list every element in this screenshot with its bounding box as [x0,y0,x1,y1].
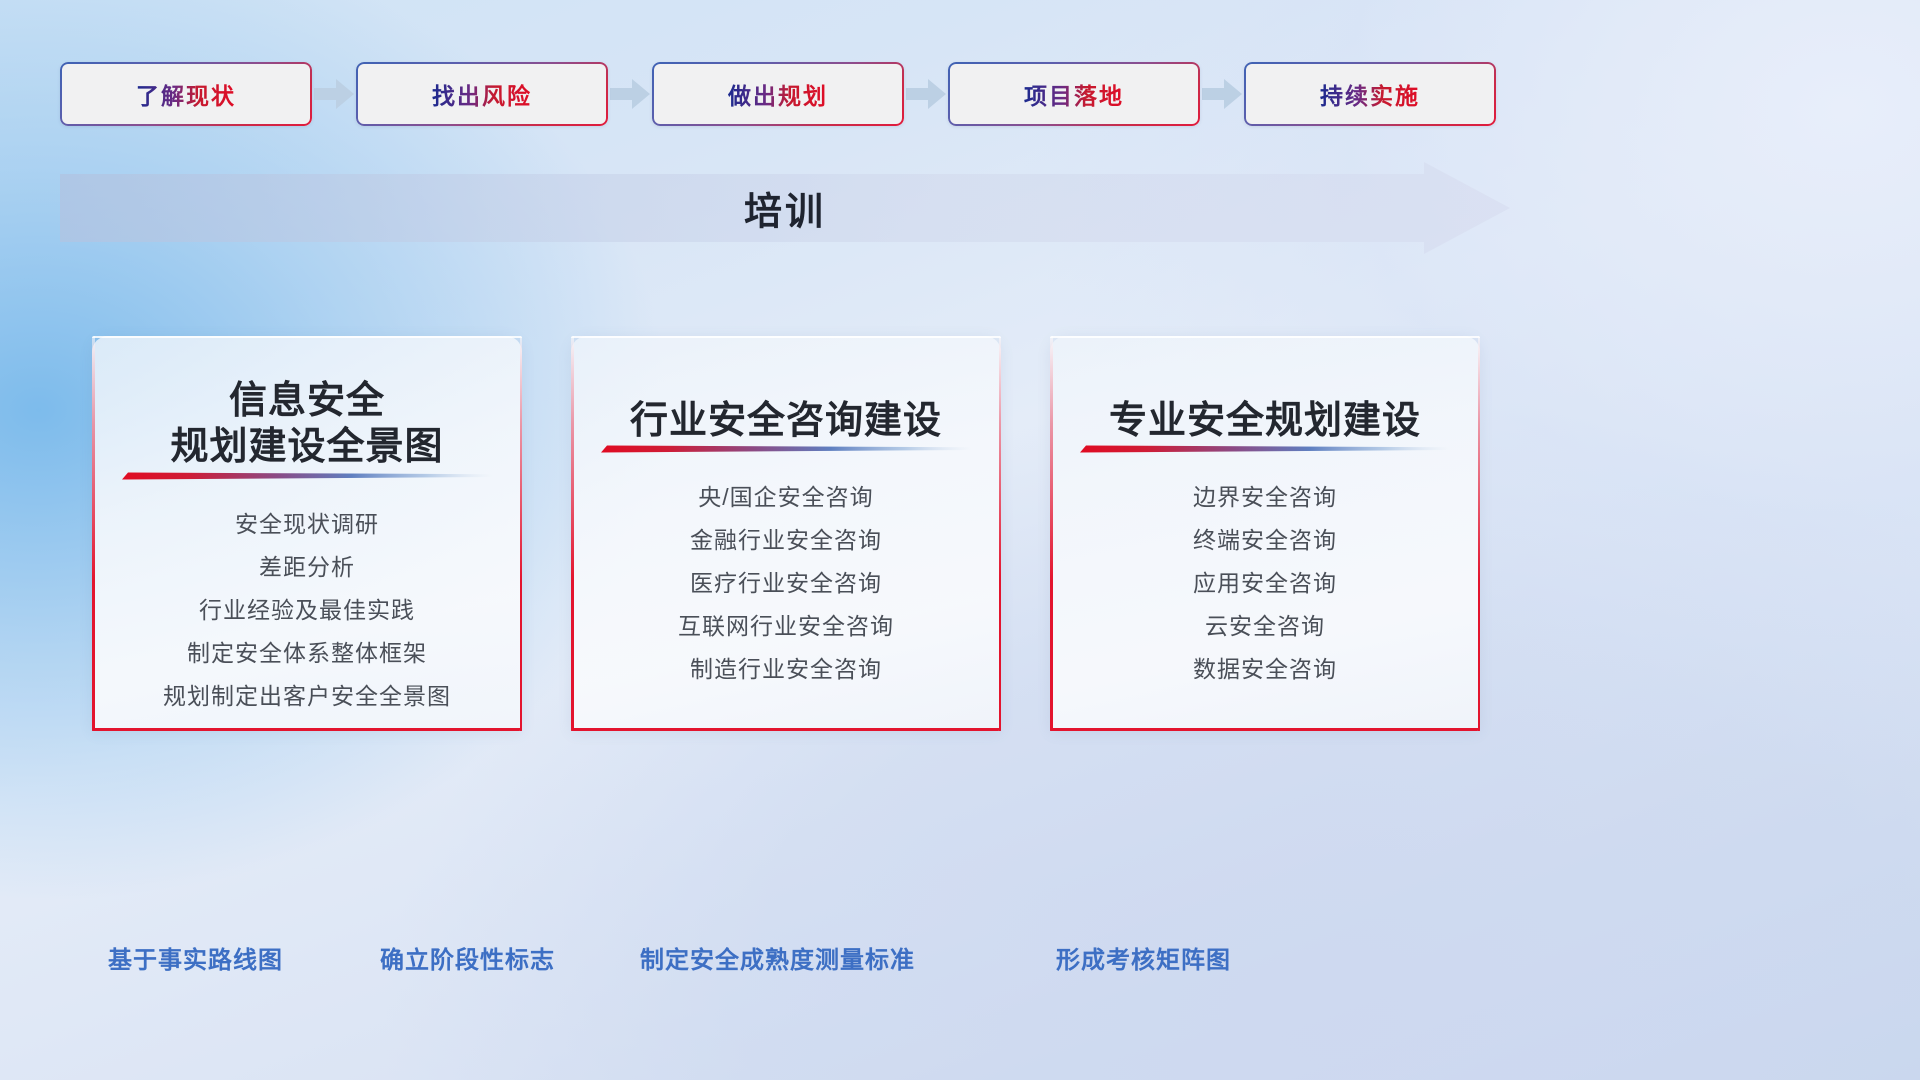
card-information-security[interactable]: 信息安全 规划建设全景图 安全现状调研 [92,336,522,731]
caption-1: 基于事实路线图 [108,940,283,975]
process-step-row: 了解现状 找出风险 做出规划 项目落地 持续实施 [60,62,1510,126]
card-title-1-line-2: 规划建设全景图 [92,424,522,470]
card-title-2-line-1: 行业安全咨询建设 [571,398,1001,444]
caption-2: 确立阶段性标志 [380,940,555,975]
list-item: 金融行业安全咨询 [571,519,1001,562]
card-title-1-line-1: 信息安全 [92,378,522,424]
gradient-divider-icon-2 [601,444,971,454]
card-list-3: 边界安全咨询 终端安全咨询 应用安全咨询 云安全咨询 数据安全咨询 [1050,476,1480,691]
step-box-2[interactable]: 找出风险 [356,62,608,126]
card-industry-security-consulting[interactable]: 行业安全咨询建设 央/国企安全咨询 金融行业安全咨 [571,336,1001,731]
right-arrow-icon-3 [904,62,948,126]
list-item: 规划制定出客户安全全景图 [92,675,522,718]
list-item: 行业经验及最佳实践 [92,589,522,632]
step-box-1[interactable]: 了解现状 [60,62,312,126]
card-title-3: 专业安全规划建设 [1050,336,1480,444]
right-arrow-icon-4 [1200,62,1244,126]
card-row: 信息安全 规划建设全景图 安全现状调研 [92,336,1480,731]
list-item: 制造行业安全咨询 [571,648,1001,691]
list-item: 数据安全咨询 [1050,648,1480,691]
caption-3: 制定安全成熟度测量标准 [640,940,915,975]
step-box-4[interactable]: 项目落地 [948,62,1200,126]
step-label-2: 找出风险 [432,77,532,111]
right-arrow-icon-2 [608,62,652,126]
card-professional-security-planning[interactable]: 专业安全规划建设 边界安全咨询 终端安全咨询 [1050,336,1480,731]
card-title-1: 信息安全 规划建设全景图 [92,336,522,471]
list-item: 安全现状调研 [92,503,522,546]
right-arrow-icon-1 [312,62,356,126]
list-item: 制定安全体系整体框架 [92,632,522,675]
list-item: 云安全咨询 [1050,605,1480,648]
caption-4: 形成考核矩阵图 [1056,940,1231,975]
step-label-1: 了解现状 [136,77,236,111]
card-list-1: 安全现状调研 差距分析 行业经验及最佳实践 制定安全体系整体框架 规划制定出客户… [92,503,522,718]
list-item: 医疗行业安全咨询 [571,562,1001,605]
step-label-5: 持续实施 [1320,77,1420,111]
card-bottom-line [1050,728,1480,731]
step-label-3: 做出规划 [728,77,828,111]
list-item: 终端安全咨询 [1050,519,1480,562]
gradient-divider-icon-1 [122,471,492,481]
card-list-2: 央/国企安全咨询 金融行业安全咨询 医疗行业安全咨询 互联网行业安全咨询 制造行… [571,476,1001,691]
list-item: 央/国企安全咨询 [571,476,1001,519]
banner-title: 培训 [60,181,1510,236]
step-box-5[interactable]: 持续实施 [1244,62,1496,126]
training-banner: 培训 [60,162,1510,254]
list-item: 互联网行业安全咨询 [571,605,1001,648]
caption-row: 基于事实路线图 确立阶段性标志 制定安全成熟度测量标准 形成考核矩阵图 [0,940,1920,990]
list-item: 边界安全咨询 [1050,476,1480,519]
card-title-2: 行业安全咨询建设 [571,336,1001,444]
card-title-3-line-1: 专业安全规划建设 [1050,398,1480,444]
step-box-3[interactable]: 做出规划 [652,62,904,126]
step-label-4: 项目落地 [1024,77,1124,111]
gradient-divider-icon-3 [1080,444,1450,454]
card-bottom-line [92,728,522,731]
list-item: 差距分析 [92,546,522,589]
card-bottom-line [571,728,1001,731]
list-item: 应用安全咨询 [1050,562,1480,605]
